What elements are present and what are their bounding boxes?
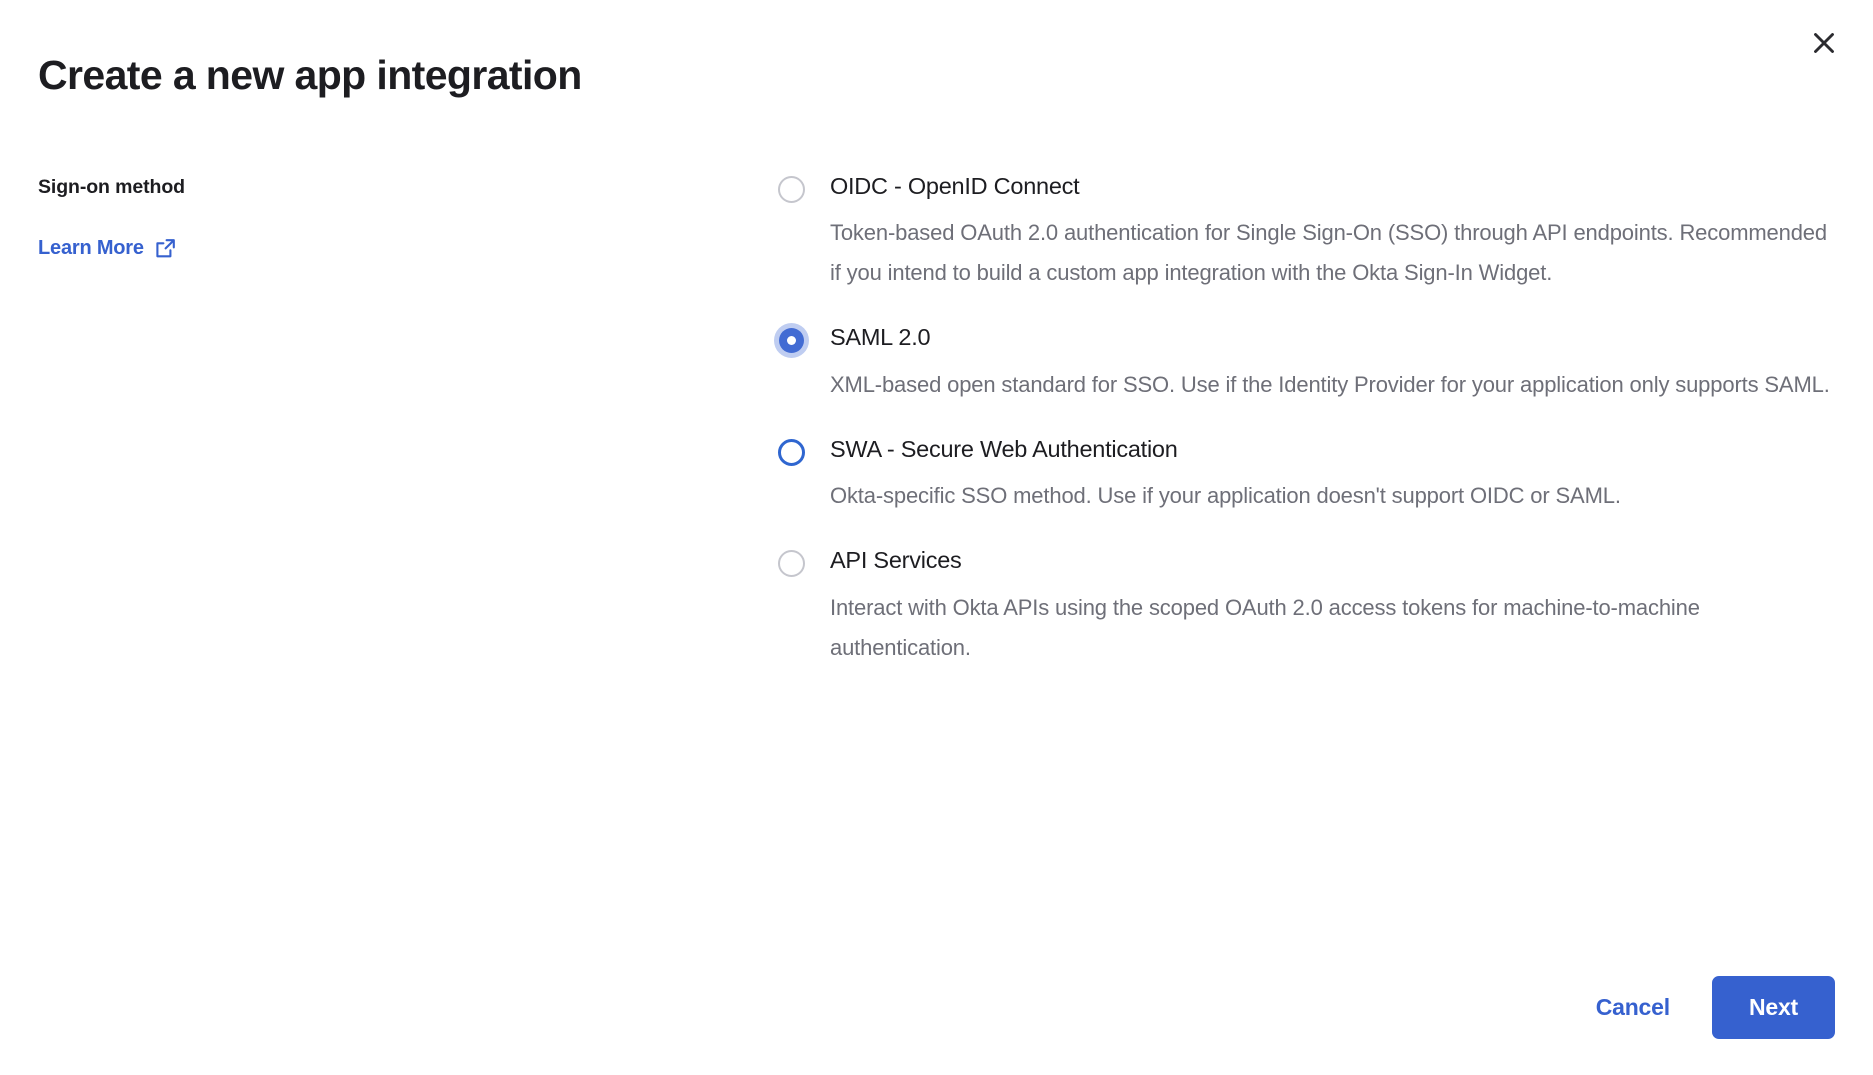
option-swa-text: SWA - Secure Web Authentication Okta-spe… (830, 435, 1835, 516)
learn-more-link[interactable]: Learn More (38, 237, 176, 260)
radio-button-icon (778, 439, 805, 466)
radio-api-services[interactable] (778, 546, 830, 577)
option-swa[interactable]: SWA - Secure Web Authentication Okta-spe… (778, 435, 1835, 516)
sign-on-method-options: OIDC - OpenID Connect Token-based OAuth … (778, 172, 1835, 668)
option-oidc-title: OIDC - OpenID Connect (830, 172, 1835, 201)
radio-saml[interactable] (778, 323, 830, 354)
dialog-title: Create a new app integration (38, 52, 582, 99)
radio-button-icon (778, 550, 805, 577)
option-swa-title: SWA - Secure Web Authentication (830, 435, 1835, 464)
learn-more-label: Learn More (38, 237, 144, 260)
sign-on-method-label: Sign-on method (38, 176, 778, 199)
create-app-integration-dialog: Create a new app integration Sign-on met… (0, 0, 1873, 1075)
external-link-icon (155, 238, 176, 259)
sign-on-method-sidebar: Sign-on method Learn More (38, 172, 778, 260)
option-api-services[interactable]: API Services Interact with Okta APIs usi… (778, 546, 1835, 667)
radio-button-icon (778, 176, 805, 203)
dialog-body: Sign-on method Learn More OIDC - (38, 172, 1835, 668)
close-icon (1811, 30, 1837, 56)
dialog-footer: Cancel Next (1582, 976, 1835, 1039)
option-oidc-text: OIDC - OpenID Connect Token-based OAuth … (830, 172, 1835, 293)
option-api-services-title: API Services (830, 546, 1835, 575)
option-oidc[interactable]: OIDC - OpenID Connect Token-based OAuth … (778, 172, 1835, 293)
option-swa-description: Okta-specific SSO method. Use if your ap… (830, 476, 1835, 516)
option-saml-title: SAML 2.0 (830, 323, 1835, 352)
option-saml-text: SAML 2.0 XML-based open standard for SSO… (830, 323, 1835, 404)
option-saml-description: XML-based open standard for SSO. Use if … (830, 365, 1835, 405)
close-dialog-button[interactable] (1803, 22, 1845, 64)
option-api-services-text: API Services Interact with Okta APIs usi… (830, 546, 1835, 667)
radio-oidc[interactable] (778, 172, 830, 203)
radio-swa[interactable] (778, 435, 830, 466)
option-api-services-description: Interact with Okta APIs using the scoped… (830, 588, 1835, 668)
next-button[interactable]: Next (1712, 976, 1835, 1039)
option-saml[interactable]: SAML 2.0 XML-based open standard for SSO… (778, 323, 1835, 404)
radio-button-selected-icon (779, 328, 804, 353)
option-oidc-description: Token-based OAuth 2.0 authentication for… (830, 213, 1835, 293)
cancel-button[interactable]: Cancel (1582, 984, 1684, 1031)
